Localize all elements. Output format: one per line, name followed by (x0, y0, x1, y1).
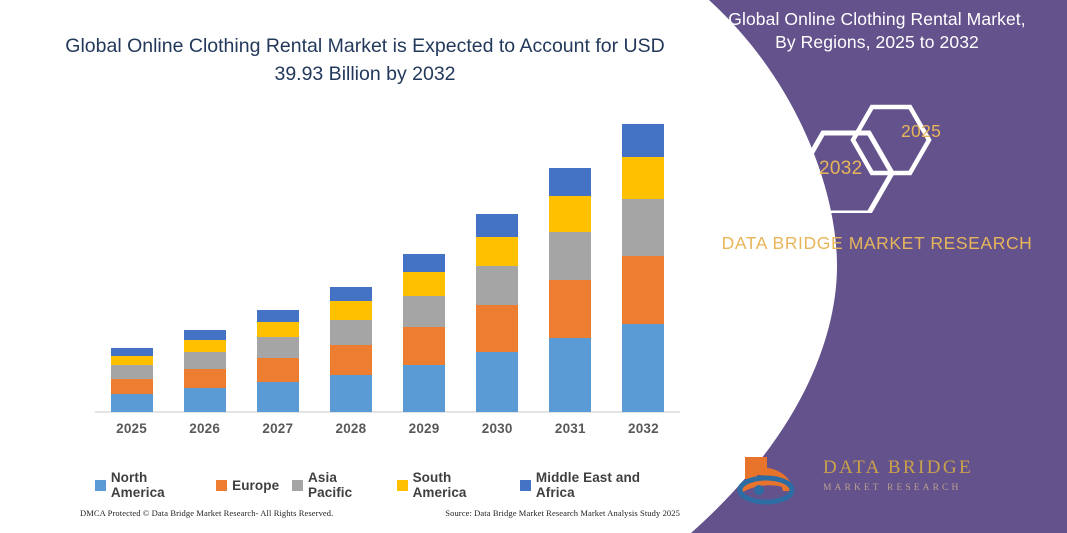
legend-item[interactable]: Middle East and Africa (520, 470, 680, 500)
x-axis-labels: 20252026202720282029203020312032 (95, 421, 680, 436)
bar-segment (330, 320, 372, 345)
bar-segment (184, 330, 226, 340)
bar-segment (549, 232, 591, 280)
bar-segment (330, 345, 372, 375)
legend-label: North America (111, 470, 203, 500)
x-axis-tick-label: 2031 (534, 421, 607, 436)
legend-item[interactable]: Europe (216, 478, 279, 493)
chart-legend: North AmericaEuropeAsia PacificSouth Ame… (95, 470, 680, 500)
bar-segment (549, 168, 591, 196)
legend-label: Asia Pacific (308, 470, 384, 500)
stacked-bar (549, 168, 591, 412)
stacked-bar (622, 124, 664, 412)
bar-segment (403, 296, 445, 327)
x-axis-tick-label: 2030 (461, 421, 534, 436)
bar-segment (622, 256, 664, 325)
panel-title: Global Online Clothing Rental Market, By… (717, 8, 1037, 54)
bar-segment (403, 254, 445, 272)
stacked-bar (403, 254, 445, 412)
legend-swatch-icon (95, 480, 106, 491)
hexagon-2025-label: 2025 (901, 121, 941, 142)
bar-segment (549, 338, 591, 412)
x-axis-tick-label: 2025 (95, 421, 168, 436)
bar-segment (549, 196, 591, 232)
hexagon-2032-label: 2032 (819, 158, 862, 180)
brand-panel: Global Online Clothing Rental Market, By… (687, 0, 1067, 533)
bar-column (388, 120, 461, 412)
stacked-bar (111, 348, 153, 412)
footer-copyright: DMCA Protected © Data Bridge Market Rese… (80, 508, 333, 518)
x-axis-tick-label: 2028 (314, 421, 387, 436)
bar-segment (111, 394, 153, 412)
x-axis-tick-label: 2026 (168, 421, 241, 436)
bar-segment (622, 199, 664, 255)
bar-segment (184, 340, 226, 353)
legend-swatch-icon (216, 480, 227, 491)
legend-label: Middle East and Africa (536, 470, 680, 500)
bar-chart-plot (95, 120, 680, 412)
bar-segment (111, 356, 153, 366)
bar-column (607, 120, 680, 412)
legend-item[interactable]: South America (397, 470, 507, 500)
page-title: Global Online Clothing Rental Market is … (60, 32, 670, 88)
bar-column (314, 120, 387, 412)
bar-column (461, 120, 534, 412)
stacked-bar (330, 287, 372, 412)
stacked-bar (476, 214, 518, 412)
legend-label: South America (413, 470, 508, 500)
bar-segment (111, 348, 153, 356)
bar-segment (403, 327, 445, 365)
bar-segment (257, 358, 299, 382)
brand-name: DATA BRIDGE MARKET RESEARCH (717, 230, 1037, 256)
bar-column (95, 120, 168, 412)
bar-segment (330, 287, 372, 302)
data-bridge-logo-icon (735, 453, 815, 505)
footer-source: Source: Data Bridge Market Research Mark… (445, 508, 680, 518)
bar-segment (476, 214, 518, 237)
legend-item[interactable]: Asia Pacific (292, 470, 384, 500)
bar-segment (257, 382, 299, 412)
bar-segment (184, 352, 226, 369)
bar-column (534, 120, 607, 412)
stacked-bar (257, 310, 299, 412)
legend-swatch-icon (520, 480, 531, 491)
bar-column (241, 120, 314, 412)
bar-segment (622, 157, 664, 199)
bar-column (168, 120, 241, 412)
company-logo: DATA BRIDGE MARKET RESEARCH (735, 453, 1035, 509)
bar-segment (476, 237, 518, 266)
footer: DMCA Protected © Data Bridge Market Rese… (80, 508, 680, 518)
legend-swatch-icon (292, 480, 303, 491)
bar-segment (257, 310, 299, 322)
bar-segment (111, 379, 153, 394)
bar-segment (476, 352, 518, 412)
bar-segment (549, 280, 591, 338)
bar-segment (622, 324, 664, 412)
logo-wordmark: DATA BRIDGE MARKET RESEARCH (823, 457, 973, 493)
bar-segment (184, 369, 226, 388)
legend-item[interactable]: North America (95, 470, 203, 500)
bar-segment (622, 124, 664, 157)
x-axis-tick-label: 2032 (607, 421, 680, 436)
bar-segment (403, 272, 445, 296)
infographic-root: Global Online Clothing Rental Market is … (0, 0, 1067, 533)
hexagon-group: 2032 2025 (797, 103, 997, 213)
bar-segment (111, 365, 153, 378)
legend-swatch-icon (397, 480, 408, 491)
bar-segment (184, 388, 226, 412)
bar-segment (257, 337, 299, 358)
x-axis-tick-label: 2029 (388, 421, 461, 436)
bar-segment (257, 322, 299, 337)
bar-segment (476, 266, 518, 305)
logo-main-text: DATA BRIDGE (823, 457, 973, 479)
stacked-bar (184, 330, 226, 412)
bar-segment (403, 365, 445, 412)
logo-sub-text: MARKET RESEARCH (823, 483, 973, 493)
bar-segment (330, 375, 372, 412)
bar-segment (476, 305, 518, 352)
x-axis-tick-label: 2027 (241, 421, 314, 436)
legend-label: Europe (232, 478, 279, 493)
bar-segment (330, 301, 372, 320)
